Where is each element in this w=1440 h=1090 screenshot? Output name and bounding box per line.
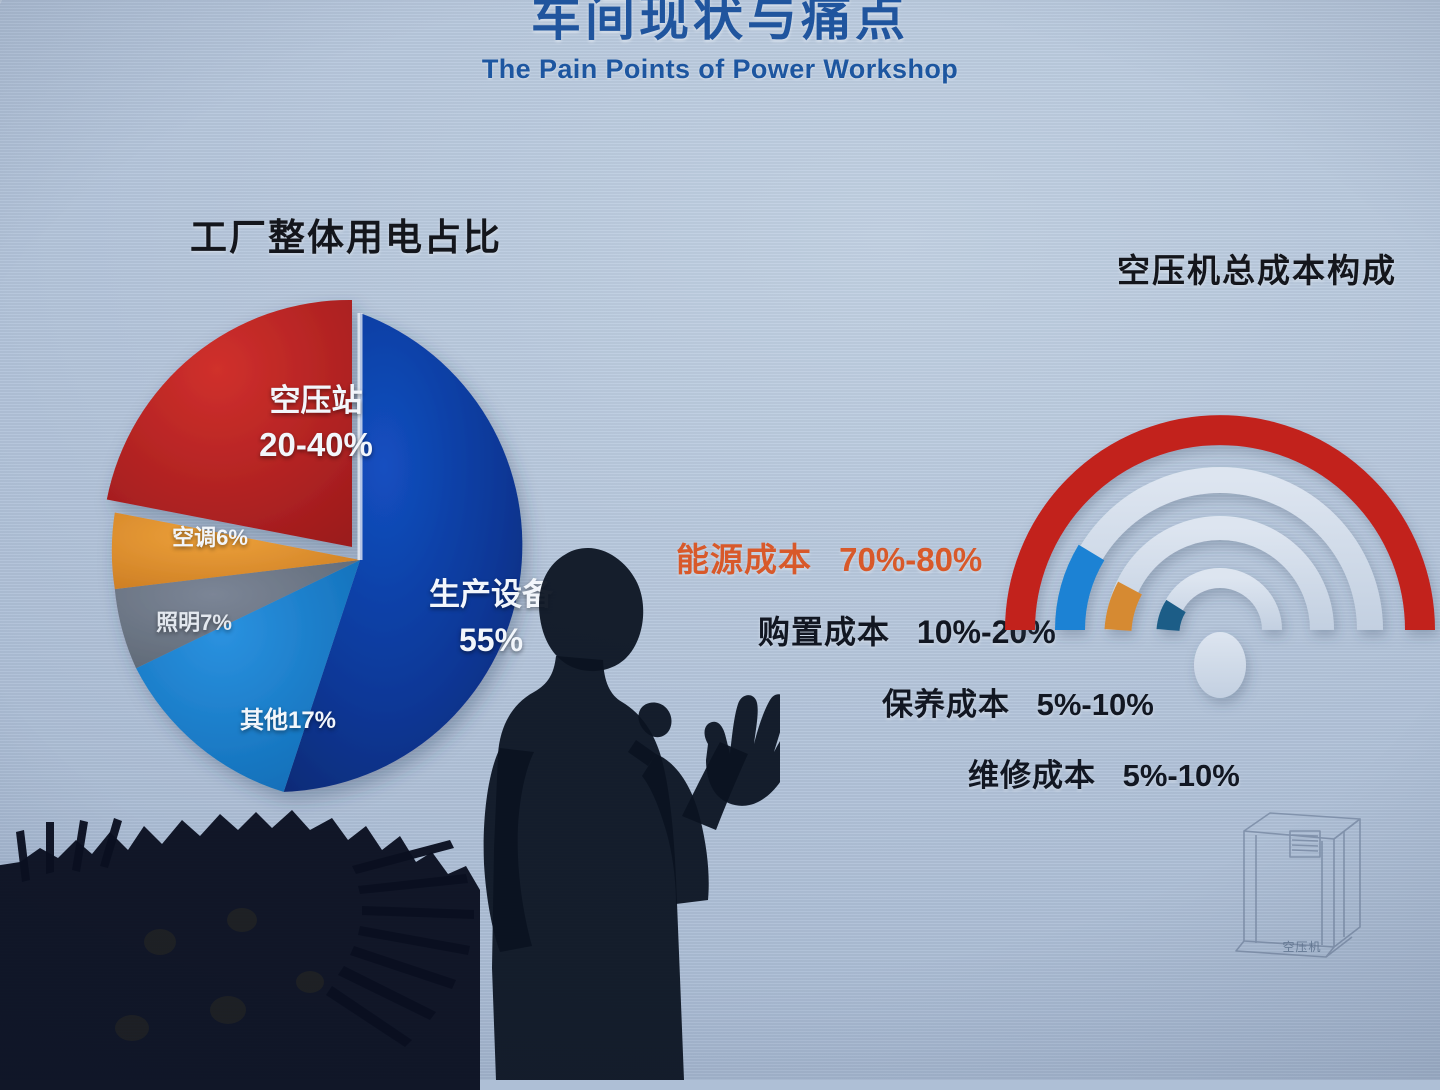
- arc-ring-maintenance: [1118, 588, 1130, 630]
- cost-row-repair: 维修成本 5%-10%: [968, 750, 1256, 795]
- slide-header: 车间现状与痛点 The Pain Points of Power Worksho…: [0, 0, 1440, 85]
- flower-arrangement-silhouette: [0, 770, 480, 1090]
- arc-ring-repair-track: [1168, 578, 1272, 630]
- air-compressor-label: 空压机: [1222, 938, 1382, 955]
- slide-title-en: The Pain Points of Power Workshop: [0, 54, 1440, 85]
- pie-label-aircon: 空调6%: [140, 525, 280, 551]
- arc-ring-repair: [1168, 606, 1176, 630]
- pie-label-lighting: 照明7%: [124, 610, 264, 636]
- slide-title-cn: 车间现状与痛点: [0, 0, 1440, 50]
- arc-ring-purchase: [1070, 553, 1092, 631]
- pie-chart-title: 工厂整体用电占比: [190, 207, 502, 261]
- pie-label-air-station: 空压站 20-40%: [216, 383, 416, 465]
- arc-chart-title: 空压机总成本构成: [1117, 244, 1397, 292]
- arc-center-dot: [1194, 632, 1246, 698]
- pie-label-other: 其他17%: [208, 707, 368, 735]
- presenter-silhouette: [470, 548, 780, 1080]
- radial-arc-chart: [990, 330, 1440, 750]
